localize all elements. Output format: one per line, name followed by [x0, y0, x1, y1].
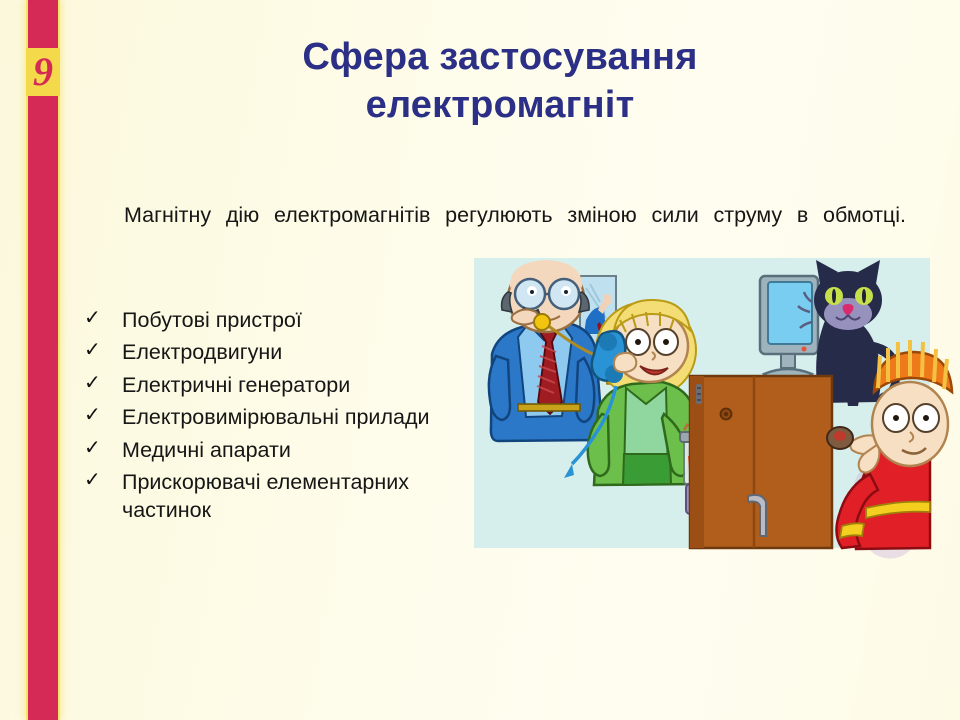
list-item: ✓ Прискорювачі елементарних частинок: [82, 468, 482, 525]
check-icon: ✓: [84, 305, 101, 331]
list-item-label: Медичні апарати: [122, 438, 291, 462]
list-item: ✓ Електричні генератори: [82, 371, 482, 399]
side-stripe: [28, 0, 58, 720]
list-item-label: Електровимірювальні прилади: [122, 405, 430, 429]
list-item: ✓ Електровимірювальні прилади: [82, 403, 482, 431]
list-item-label: Електродвигуни: [122, 340, 282, 364]
illustration-artwork: [474, 258, 930, 548]
list-item-label: Прискорювачі елементарних частинок: [122, 470, 409, 522]
check-icon: ✓: [84, 337, 101, 363]
check-icon: ✓: [84, 370, 101, 396]
illustration-panel: [474, 258, 930, 548]
check-icon: ✓: [84, 467, 101, 493]
list-item: ✓ Електродвигуни: [82, 338, 482, 366]
list-item-label: Побутові пристрої: [122, 308, 302, 332]
check-icon: ✓: [84, 402, 101, 428]
list-item-label: Електричні генератори: [122, 373, 350, 397]
page-title: Сфера застосування електромагніт: [150, 34, 850, 129]
page-title-line-1: Сфера застосування: [150, 34, 850, 82]
list-item: ✓ Побутові пристрої: [82, 306, 482, 334]
intro-paragraph: Магнітну дію електромагнітів регулюють з…: [68, 200, 906, 261]
slide-number-badge: 9: [26, 48, 60, 96]
page-title-line-2: електромагніт: [150, 82, 850, 130]
list-item: ✓ Медичні апарати: [82, 436, 482, 464]
check-icon: ✓: [84, 435, 101, 461]
brown-door-icon: [690, 376, 832, 548]
slide-canvas: 9 Сфера застосування електромагніт Магні…: [0, 0, 960, 720]
application-list: ✓ Побутові пристрої ✓ Електродвигуни ✓ Е…: [82, 306, 482, 529]
